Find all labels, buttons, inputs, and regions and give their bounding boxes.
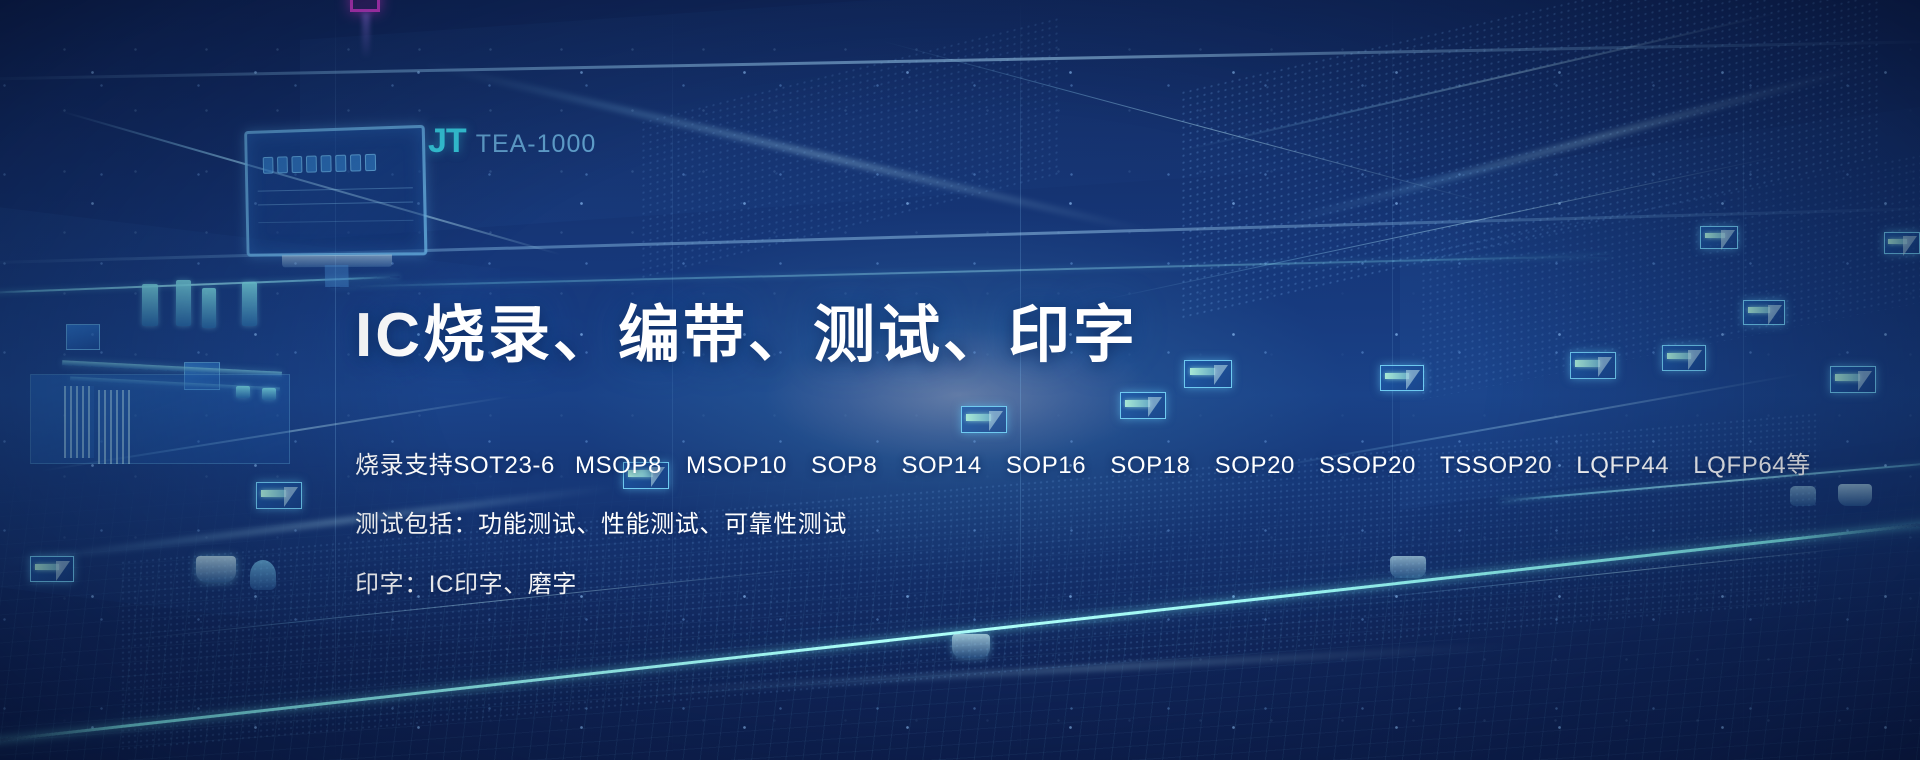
packages-line: 烧录支持SOT23-6 MSOP8 MSOP10 SOP8 SOP14 SOP1… [355, 454, 1585, 478]
package-chip-tssop20: TSSOP20 [1440, 454, 1552, 478]
rail-mount-foot-1 [196, 556, 236, 582]
brand-logo-text: JT [428, 122, 466, 161]
packages-row: 烧录支持SOT23-6 MSOP8 MSOP10 SOP8 SOP14 SOP1… [355, 454, 1811, 478]
packages-lead-label: 烧录支持SOT23-6 [355, 454, 555, 478]
monitor-screen-chips [263, 154, 376, 174]
machine-nozzle-1 [236, 386, 250, 398]
page-title: IC烧录、编带、测试、印字 [355, 304, 1585, 368]
ic-chip-card-10 [30, 556, 74, 582]
dot-matrix-block-center [640, 15, 1060, 280]
package-chip-lqfp64: LQFP64等 [1693, 454, 1811, 478]
rail-mount-foot-6 [1790, 486, 1816, 506]
monitor-stand [325, 265, 349, 287]
machine-module-2 [184, 362, 220, 390]
ic-chip-card-7 [1830, 366, 1876, 393]
machine-cylinder-1 [142, 284, 158, 326]
monitor-scanline-3 [258, 220, 413, 223]
brand-model-text: TEA-1000 [476, 130, 597, 159]
machine-cylinder-3 [202, 288, 216, 328]
machine-body [30, 374, 290, 464]
rail-mount-foot-3 [952, 634, 990, 658]
machine-fin-stack-2 [98, 390, 130, 464]
monitor-scanline-2 [258, 202, 413, 206]
package-chip-msop10: MSOP10 [686, 454, 787, 478]
package-chip-msop8: MSOP8 [575, 454, 662, 478]
monitor-display-graphic [244, 125, 427, 257]
package-chip-sop8: SOP8 [811, 454, 877, 478]
package-chip-sop18: SOP18 [1110, 454, 1190, 478]
ic-service-hero-banner: JT TEA-1000 IC烧录、编带、测试、印字 烧录支持SOT23-6 MS… [0, 0, 1920, 760]
package-chip-sop20: SOP20 [1215, 454, 1295, 478]
monitor-scanline-1 [258, 187, 413, 191]
overhead-light-beam [362, 13, 370, 59]
testing-line: 测试包括：功能测试、性能测试、可靠性测试 [355, 513, 1585, 537]
machine-rail-mid [70, 377, 280, 392]
machinery-assembly-left [14, 278, 314, 478]
marking-line: 印字：IC印字、磨字 [355, 573, 1585, 597]
package-chip-sop16: SOP16 [1006, 454, 1086, 478]
machine-nozzle-2 [262, 388, 276, 400]
machine-cylinder-4 [242, 282, 257, 326]
package-chip-ssop20: SSOP20 [1319, 454, 1416, 478]
overhead-magenta-indicator [350, 0, 380, 12]
machine-rail-top [62, 360, 282, 377]
ic-chip-card-9 [256, 482, 302, 509]
package-chip-lqfp44: LQFP44 [1576, 454, 1669, 478]
machine-module-1 [66, 324, 100, 350]
rail-mount-foot-2 [250, 560, 276, 590]
package-chip-sop14: SOP14 [901, 454, 981, 478]
machine-cylinder-2 [176, 280, 191, 326]
machine-fin-stack-1 [64, 386, 94, 458]
rail-mount-foot-5 [1838, 484, 1872, 506]
service-detail-list: 烧录支持SOT23-6 MSOP8 MSOP10 SOP8 SOP14 SOP1… [355, 454, 1585, 597]
banner-content: IC烧录、编带、测试、印字 烧录支持SOT23-6 MSOP8 MSOP10 S… [355, 304, 1585, 597]
brand-mark: JT TEA-1000 [428, 122, 596, 161]
